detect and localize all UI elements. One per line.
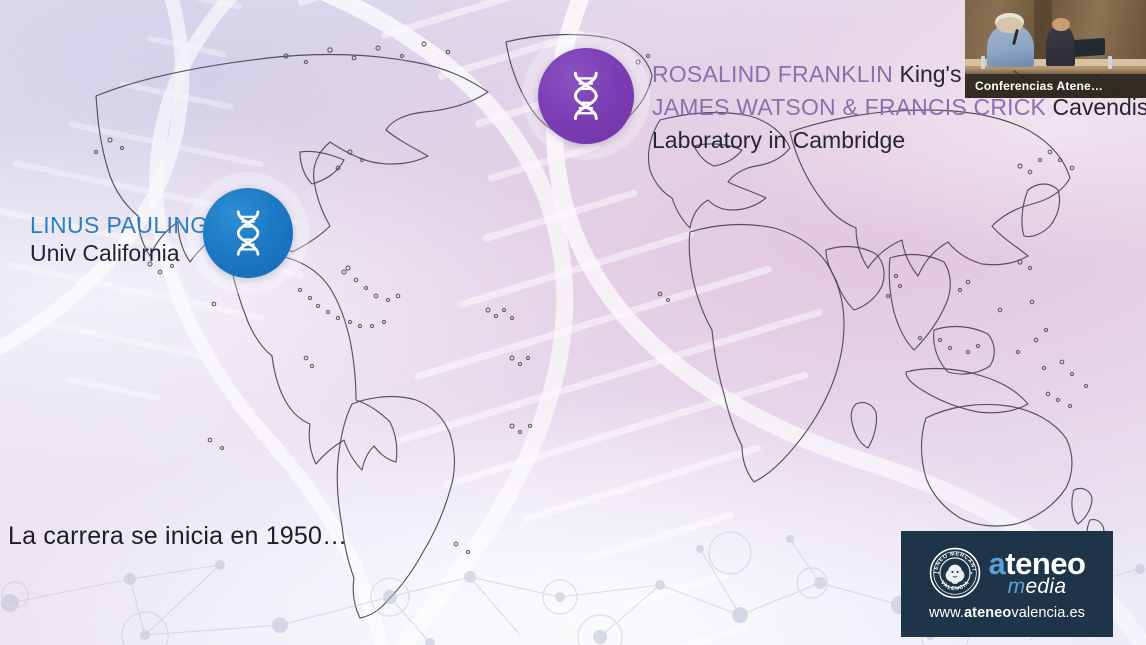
ateneo-wordmark: ateneo media [989,550,1086,597]
wordmark-ateneo: ateneo [989,550,1086,579]
url-bold: ateneo [964,605,1011,621]
map-marker-pauling[interactable] [203,188,293,278]
pauling-institution: Univ California [30,239,209,269]
marker-disc [538,48,634,144]
dna-helix-icon [222,207,274,259]
marker-disc [203,188,293,278]
pip-speaker-right [1046,26,1075,65]
wordmark-ateneo-lead: a [989,546,1006,581]
pip-laptop [1074,38,1105,57]
logo-row: ATENEO MERCANTIL VALENCIA ateneo [929,547,1086,599]
map-marker-cambridge[interactable] [538,48,634,144]
slide-caption: La carrera se inicia en 1950… [8,522,347,551]
ateneo-website-url: www.ateneovalencia.es [929,605,1085,621]
url-prefix: www. [929,605,964,621]
ateneo-emblem-icon: ATENEO MERCANTIL VALENCIA [929,547,981,599]
presentation-slide: LINUS PAULING Univ California ROSALIND F… [0,0,1146,645]
wordmark-media-lead: m [1008,575,1026,598]
url-suffix: valencia.es [1011,605,1085,621]
pip-bottle-left [981,56,985,69]
wordmark-media-rest: edia [1025,575,1066,598]
dna-helix-icon [558,68,614,124]
cambridge-line-3: Laboratory in Cambridge [652,123,1146,158]
pip-video-title[interactable]: Conferencias Atene… [965,74,1146,98]
pauling-name: LINUS PAULING [30,212,209,239]
video-pip-overlay[interactable]: Conferencias Atene… [965,0,1146,98]
wordmark-media: media [989,577,1086,596]
pip-bottle-right [1108,56,1112,69]
ateneo-media-logo: ATENEO MERCANTIL VALENCIA ateneo [901,531,1113,637]
franklin-name: ROSALIND FRANKLIN [652,61,893,87]
label-pauling: LINUS PAULING Univ California [30,212,209,269]
pip-speaker-left-head [996,17,1023,34]
